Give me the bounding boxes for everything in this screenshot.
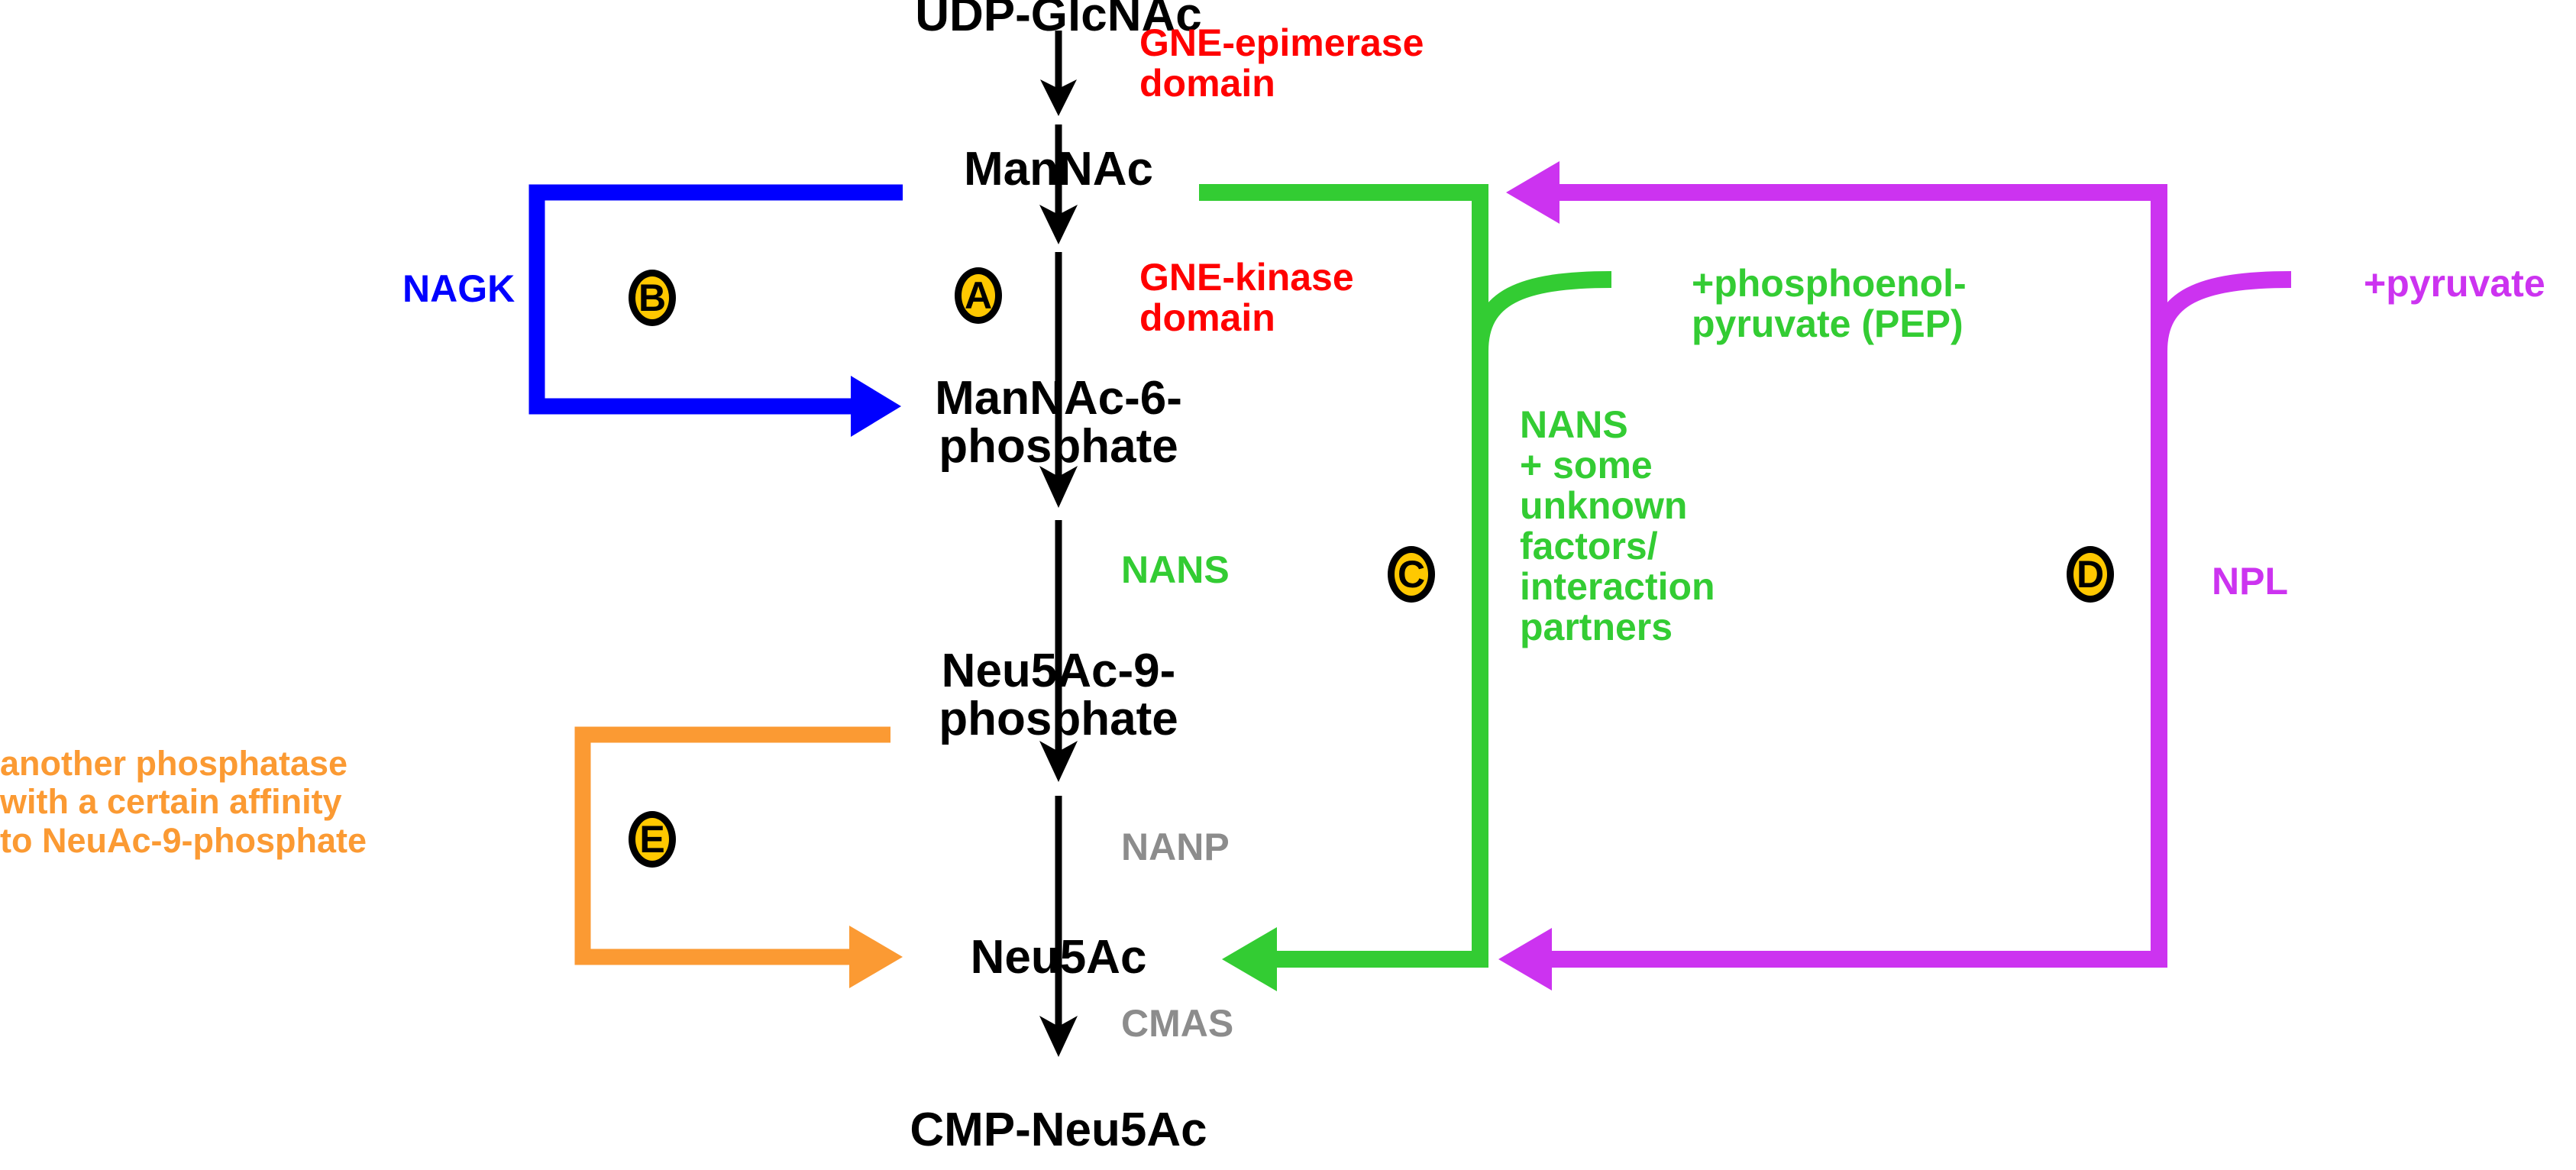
arrow-neu5ac-to-cmpneu5ac bbox=[1039, 796, 1078, 1057]
badge-c[interactable]: C bbox=[1388, 546, 1435, 603]
metabolite-neu5ac-9-phosphate: Neu5Ac-9- phosphate bbox=[806, 647, 1311, 743]
badge-e[interactable]: E bbox=[629, 811, 676, 868]
badge-a[interactable]: A bbox=[955, 267, 1002, 324]
annotation-nans-unknown-factors: NANS + some unknown factors/ interaction… bbox=[1520, 405, 1715, 648]
pathway-diagram: UDP-GlcNAc ManNAc ManNAc-6- phosphate Ne… bbox=[0, 0, 2576, 1170]
badge-b[interactable]: B bbox=[629, 270, 676, 326]
enzyme-label-npl: NPL bbox=[2212, 561, 2288, 602]
metabolite-neu5ac: Neu5Ac bbox=[829, 933, 1288, 981]
metabolite-mannac: ManNAc bbox=[829, 145, 1288, 193]
metabolite-mannac-6-phosphate: ManNAc-6- phosphate bbox=[806, 374, 1311, 470]
substrate-label-pyruvate: +pyruvate bbox=[2364, 263, 2545, 304]
enzyme-label-nanp: NANP bbox=[1121, 828, 1230, 866]
annotation-another-phosphatase: another phosphatase with a certain affin… bbox=[0, 745, 558, 860]
arrow-udpglcnac-to-mannac bbox=[1040, 31, 1077, 116]
enzyme-label-cmas: CMAS bbox=[1121, 1004, 1233, 1042]
enzyme-label-gne-kinase: GNE-kinase domain bbox=[1139, 257, 1354, 338]
badge-d[interactable]: D bbox=[2067, 546, 2114, 603]
substrate-label-pep: +phosphoenol- pyruvate (PEP) bbox=[1692, 263, 1967, 344]
arrow-layer bbox=[0, 0, 2576, 1170]
enzyme-label-nagk: NAGK bbox=[402, 270, 515, 308]
enzyme-label-gne-epimerase: GNE-epimerase domain bbox=[1139, 23, 1424, 104]
metabolite-cmp-neu5ac: CMP-Neu5Ac bbox=[784, 1106, 1333, 1154]
enzyme-label-nans-inline: NANS bbox=[1121, 550, 1230, 590]
